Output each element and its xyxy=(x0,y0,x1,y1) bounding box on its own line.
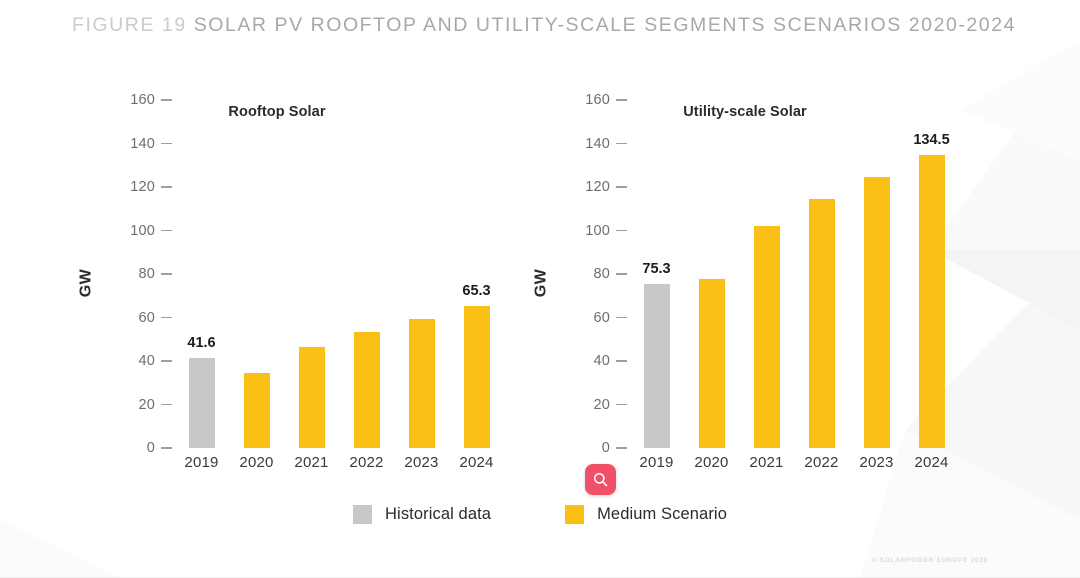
bar-rooftop-2023[interactable] xyxy=(409,319,435,448)
bar-rooftop-2024[interactable] xyxy=(464,306,490,448)
legend-item-medium-scenario[interactable]: Medium Scenario xyxy=(565,505,727,524)
y-tick-label: 120 xyxy=(585,179,610,195)
y-axis-rooftop: 160 140 120 100 80 60 40 20 0 xyxy=(96,100,172,448)
bar-utility-2021[interactable] xyxy=(754,226,780,448)
legend-swatch-historical-icon xyxy=(353,505,372,524)
y-tick-label: 0 xyxy=(602,440,610,456)
bar-slot: 75.3 xyxy=(629,100,684,448)
y-tick-label: 100 xyxy=(585,223,610,239)
legend-swatch-scenario-icon xyxy=(565,505,584,524)
y-tick-mark xyxy=(616,143,627,145)
bar-slot xyxy=(684,100,739,448)
bar-slot xyxy=(794,100,849,448)
y-tick-label: 140 xyxy=(130,136,155,152)
bar-slot: 134.5 xyxy=(904,100,959,448)
x-tick-label: 2024 xyxy=(449,454,504,471)
y-tick-mark xyxy=(161,186,172,188)
legend-item-historical[interactable]: Historical data xyxy=(353,505,491,524)
chart-panel-utility: Utility-scale Solar GW 160 140 120 100 8… xyxy=(525,78,985,468)
plot-area-utility: 75.3 xyxy=(629,100,959,448)
bar-slot: 65.3 xyxy=(449,100,504,448)
y-tick-label: 160 xyxy=(130,92,155,108)
figure-title: FIGURE 19 SOLAR PV ROOFTOP AND UTILITY-S… xyxy=(72,14,1016,37)
bar-utility-2019[interactable] xyxy=(644,284,670,448)
y-tick-mark xyxy=(161,143,172,145)
x-tick-label: 2022 xyxy=(339,454,394,471)
x-tick-label: 2022 xyxy=(794,454,849,471)
bar-rooftop-2020[interactable] xyxy=(244,373,270,448)
bar-group-utility: 75.3 xyxy=(629,100,959,448)
bar-rooftop-2021[interactable] xyxy=(299,347,325,448)
y-tick-mark xyxy=(161,404,172,406)
bar-slot xyxy=(284,100,339,448)
y-tick-mark xyxy=(616,273,627,275)
y-tick-mark xyxy=(161,317,172,319)
x-axis-utility: 2019 2020 2021 2022 2023 2024 xyxy=(629,454,959,471)
y-tick-mark xyxy=(161,230,172,232)
x-tick-label: 2020 xyxy=(684,454,739,471)
y-tick-mark xyxy=(616,360,627,362)
bar-utility-2023[interactable] xyxy=(864,177,890,448)
y-tick-mark xyxy=(616,317,627,319)
y-tick-mark xyxy=(161,447,172,449)
figure-number: FIGURE 19 xyxy=(72,14,187,36)
search-button[interactable] xyxy=(585,464,616,495)
bar-slot: 41.6 xyxy=(174,100,229,448)
y-tick-mark xyxy=(616,447,627,449)
x-tick-label: 2023 xyxy=(394,454,449,471)
bar-slot xyxy=(739,100,794,448)
bar-value-label: 75.3 xyxy=(642,261,670,277)
y-tick-label: 80 xyxy=(138,266,155,282)
y-tick-label: 80 xyxy=(593,266,610,282)
y-tick-label: 60 xyxy=(593,310,610,326)
figure-page: FIGURE 19 SOLAR PV ROOFTOP AND UTILITY-S… xyxy=(0,0,1080,578)
x-tick-label: 2019 xyxy=(174,454,229,471)
bar-utility-2024[interactable] xyxy=(919,155,945,448)
x-tick-label: 2021 xyxy=(284,454,339,471)
legend-label-medium-scenario: Medium Scenario xyxy=(597,505,727,524)
y-tick-label: 120 xyxy=(130,179,155,195)
y-axis-utility: 160 140 120 100 80 60 40 20 0 xyxy=(551,100,627,448)
y-tick-mark xyxy=(161,99,172,101)
bar-group-rooftop: 41.6 xyxy=(174,100,504,448)
y-tick-label: 140 xyxy=(585,136,610,152)
figure-title-text: SOLAR PV ROOFTOP AND UTILITY-SCALE SEGME… xyxy=(194,14,1016,36)
x-tick-label: 2021 xyxy=(739,454,794,471)
copyright-text: © SOLARPOWER EUROPE 2020 xyxy=(872,557,988,564)
bar-utility-2022[interactable] xyxy=(809,199,835,448)
y-tick-label: 20 xyxy=(593,397,610,413)
bar-rooftop-2022[interactable] xyxy=(354,332,380,448)
y-tick-label: 160 xyxy=(585,92,610,108)
y-tick-mark xyxy=(616,404,627,406)
y-tick-mark xyxy=(616,186,627,188)
y-tick-mark xyxy=(161,273,172,275)
y-axis-label-utility: GW xyxy=(532,269,550,298)
y-tick-mark xyxy=(161,360,172,362)
chart-panel-rooftop: Rooftop Solar GW 160 140 120 100 80 60 4… xyxy=(70,78,520,468)
y-tick-label: 0 xyxy=(147,440,155,456)
bar-rooftop-2019[interactable] xyxy=(189,358,215,448)
y-tick-label: 60 xyxy=(138,310,155,326)
bar-value-label: 65.3 xyxy=(462,283,490,299)
bar-slot xyxy=(339,100,394,448)
legend-label-historical: Historical data xyxy=(385,505,491,524)
bar-slot xyxy=(394,100,449,448)
y-tick-label: 40 xyxy=(138,353,155,369)
y-tick-mark xyxy=(616,230,627,232)
y-tick-label: 20 xyxy=(138,397,155,413)
bar-utility-2020[interactable] xyxy=(699,279,725,448)
y-tick-label: 100 xyxy=(130,223,155,239)
charts-container: Rooftop Solar GW 160 140 120 100 80 60 4… xyxy=(0,78,1080,468)
y-axis-label-rooftop: GW xyxy=(77,269,95,298)
bar-value-label: 41.6 xyxy=(187,335,215,351)
x-tick-label: 2019 xyxy=(629,454,684,471)
y-tick-mark xyxy=(616,99,627,101)
bar-value-label: 134.5 xyxy=(913,132,949,148)
bar-slot xyxy=(849,100,904,448)
plot-area-rooftop: 41.6 xyxy=(174,100,504,448)
y-tick-label: 40 xyxy=(593,353,610,369)
search-icon xyxy=(592,471,609,488)
x-tick-label: 2023 xyxy=(849,454,904,471)
x-axis-rooftop: 2019 2020 2021 2022 2023 2024 xyxy=(174,454,504,471)
chart-legend: Historical data Medium Scenario xyxy=(0,505,1080,524)
bar-slot xyxy=(229,100,284,448)
x-tick-label: 2020 xyxy=(229,454,284,471)
x-tick-label: 2024 xyxy=(904,454,959,471)
